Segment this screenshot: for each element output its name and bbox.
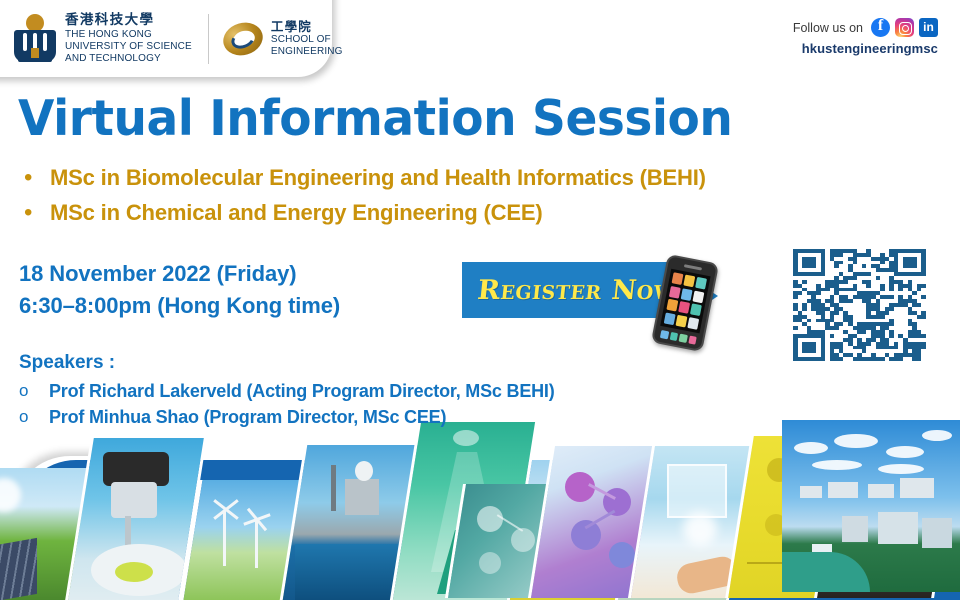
circle-bullet-icon: o <box>19 378 49 404</box>
program-label: MSc in Chemical and Energy Engineering (… <box>50 198 543 228</box>
school-of-engineering-logo: 工學院 SCHOOL OF ENGINEERING <box>223 20 343 57</box>
school-of-engineering-ring-icon <box>223 22 263 56</box>
facebook-icon[interactable] <box>871 18 890 37</box>
photo-montage-strip <box>0 420 960 600</box>
hkust-university-logo: 香港科技大學 THE HONG KONG UNIVERSITY OF SCIEN… <box>14 13 192 65</box>
school-name-line-1: SCHOOL OF <box>271 34 343 46</box>
instagram-icon[interactable] <box>895 18 914 37</box>
speaker-list-item: o Prof Richard Lakerveld (Acting Program… <box>19 378 555 404</box>
social-handle: hkustengineeringmsc <box>793 41 938 56</box>
program-list: • MSc in Biomolecular Engineering and He… <box>20 163 719 233</box>
school-name-line-2: ENGINEERING <box>271 46 343 58</box>
university-name-line-2: UNIVERSITY OF SCIENCE <box>65 41 192 52</box>
register-cta[interactable]: Register Now! <box>462 262 782 342</box>
hkust-shield-icon <box>14 14 56 62</box>
circle-bullet-icon: o <box>19 404 49 430</box>
program-list-item: • MSc in Chemical and Energy Engineering… <box>20 198 719 228</box>
bullet-icon: • <box>20 198 50 228</box>
speakers-block: Speakers : o Prof Richard Lakerveld (Act… <box>19 350 555 430</box>
follow-us-block: Follow us on hkustengineeringmsc <box>793 18 938 56</box>
follow-us-label: Follow us on <box>793 21 863 35</box>
school-name-chinese: 工學院 <box>271 20 343 34</box>
event-time: 6:30–8:00pm (Hong Kong time) <box>19 290 340 322</box>
linkedin-icon[interactable] <box>919 18 938 37</box>
speaker-name: Prof Richard Lakerveld (Acting Program D… <box>49 378 555 404</box>
university-name-line-3: AND TECHNOLOGY <box>65 53 192 64</box>
poster-canvas: 香港科技大學 THE HONG KONG UNIVERSITY OF SCIEN… <box>0 0 960 600</box>
event-datetime: 18 November 2022 (Friday) 6:30–8:00pm (H… <box>19 258 340 322</box>
university-name-line-1: THE HONG KONG <box>65 29 192 40</box>
speaker-name: Prof Minhua Shao (Program Director, MSc … <box>49 404 446 430</box>
speaker-list-item: o Prof Minhua Shao (Program Director, MS… <box>19 404 555 430</box>
header-logo-card: 香港科技大學 THE HONG KONG UNIVERSITY OF SCIEN… <box>0 0 332 77</box>
page-title: Virtual Information Session <box>18 92 732 146</box>
logo-divider <box>208 14 209 64</box>
speakers-heading: Speakers : <box>19 350 555 375</box>
event-date: 18 November 2022 (Friday) <box>19 258 340 290</box>
program-list-item: • MSc in Biomolecular Engineering and He… <box>20 163 719 193</box>
program-label: MSc in Biomolecular Engineering and Heal… <box>50 163 706 193</box>
qr-code-icon[interactable] <box>793 249 926 361</box>
hkust-campus-aerial-photo <box>782 420 960 592</box>
bullet-icon: • <box>20 163 50 193</box>
university-name-chinese: 香港科技大學 <box>65 13 192 28</box>
